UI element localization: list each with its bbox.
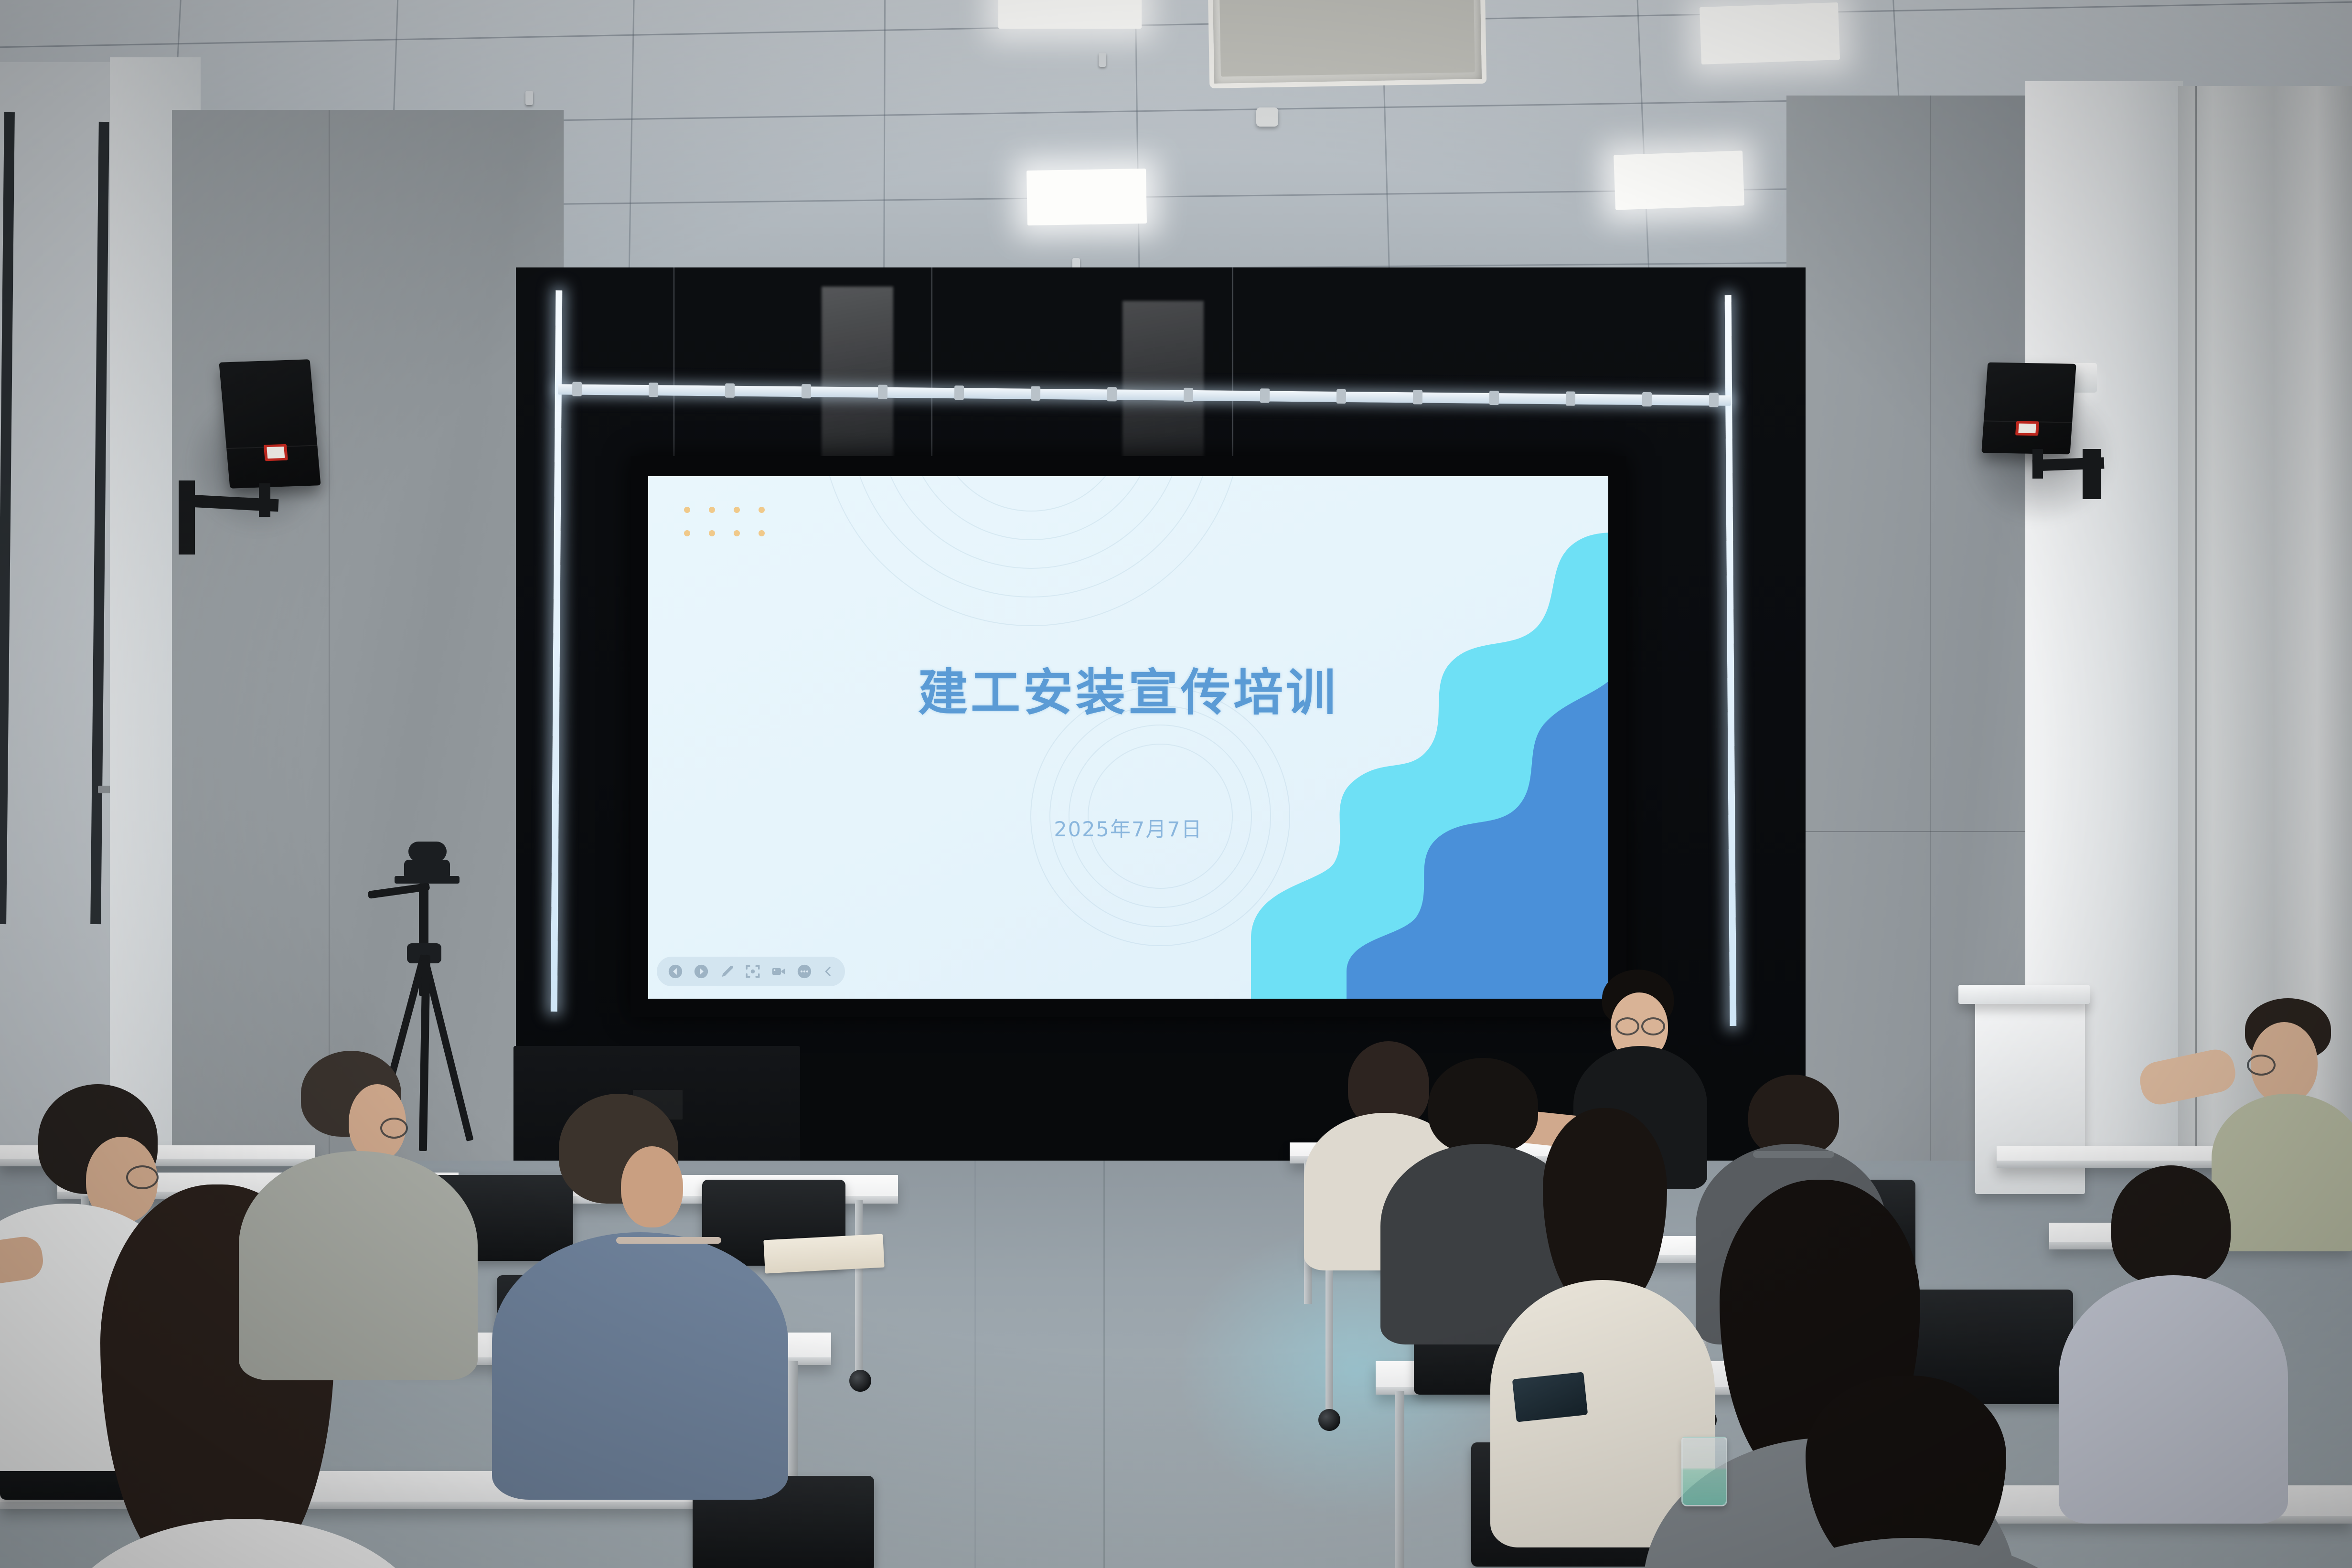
- jbl-logo: [2015, 421, 2039, 436]
- smoke-detector: [1256, 107, 1278, 127]
- head: [621, 1146, 683, 1227]
- pencil-icon[interactable]: [719, 963, 735, 980]
- jbl-logo: [264, 444, 288, 461]
- decor-dot-grid: [684, 507, 765, 536]
- ceiling-panel-light: [1026, 169, 1147, 225]
- hair: [1543, 1108, 1667, 1309]
- jbl-speaker-left: [219, 359, 321, 489]
- slide-title: 建工安装宣传培训: [648, 652, 1608, 724]
- drinking-glass[interactable]: [1681, 1437, 1727, 1506]
- air-conditioning-vent: [1208, 0, 1487, 88]
- speaker-mount-post: [2032, 449, 2043, 479]
- presentation-toolbar[interactable]: [657, 957, 845, 986]
- torso: [492, 1232, 788, 1500]
- speaker-mount-bracket: [179, 480, 195, 555]
- speaker-mount-post: [259, 483, 270, 517]
- open-notebook: [763, 1234, 884, 1274]
- glasses: [1615, 1017, 1639, 1035]
- chevron-left-icon[interactable]: [822, 963, 834, 980]
- focus-frame-icon[interactable]: [745, 963, 761, 980]
- collar: [616, 1237, 721, 1244]
- speaker-mount-bracket: [2083, 449, 2101, 499]
- ceiling-panel-light: [998, 0, 1142, 29]
- tripod-plate: [395, 876, 460, 884]
- presentation-slide[interactable]: 建工安装宣传培训 2025年7月7日: [648, 476, 1608, 999]
- glasses: [2247, 1055, 2276, 1076]
- lectern-top: [1958, 985, 2090, 1004]
- torso: [2059, 1275, 2288, 1524]
- glasses: [380, 1118, 408, 1139]
- glasses: [1641, 1017, 1665, 1035]
- slide-date: 2025年7月7日: [648, 813, 1608, 843]
- ceiling-panel-light: [1700, 2, 1840, 64]
- prev-circle-icon[interactable]: [667, 963, 684, 980]
- torso: [2212, 1094, 2352, 1251]
- meeting-room-photo: 建工安装宣传培训 2025年7月7日: [0, 0, 2352, 1568]
- sprinkler-head: [1099, 53, 1106, 67]
- hair: [2111, 1165, 2231, 1285]
- tripod-camera-icon: [408, 842, 447, 862]
- ceiling-panel-light: [1614, 150, 1744, 210]
- sprinkler-head: [525, 91, 533, 105]
- hair: [1428, 1058, 1538, 1153]
- torso: [239, 1151, 478, 1380]
- jbl-speaker-right: [1981, 363, 2076, 455]
- tablet-device[interactable]: [1512, 1372, 1588, 1422]
- ellipsis-circle-icon[interactable]: [796, 963, 813, 980]
- play-circle-icon[interactable]: [693, 963, 709, 980]
- glasses: [126, 1165, 159, 1189]
- collar: [1753, 1151, 1834, 1158]
- decor-ring: [820, 476, 1242, 626]
- video-camera-icon[interactable]: [770, 963, 787, 980]
